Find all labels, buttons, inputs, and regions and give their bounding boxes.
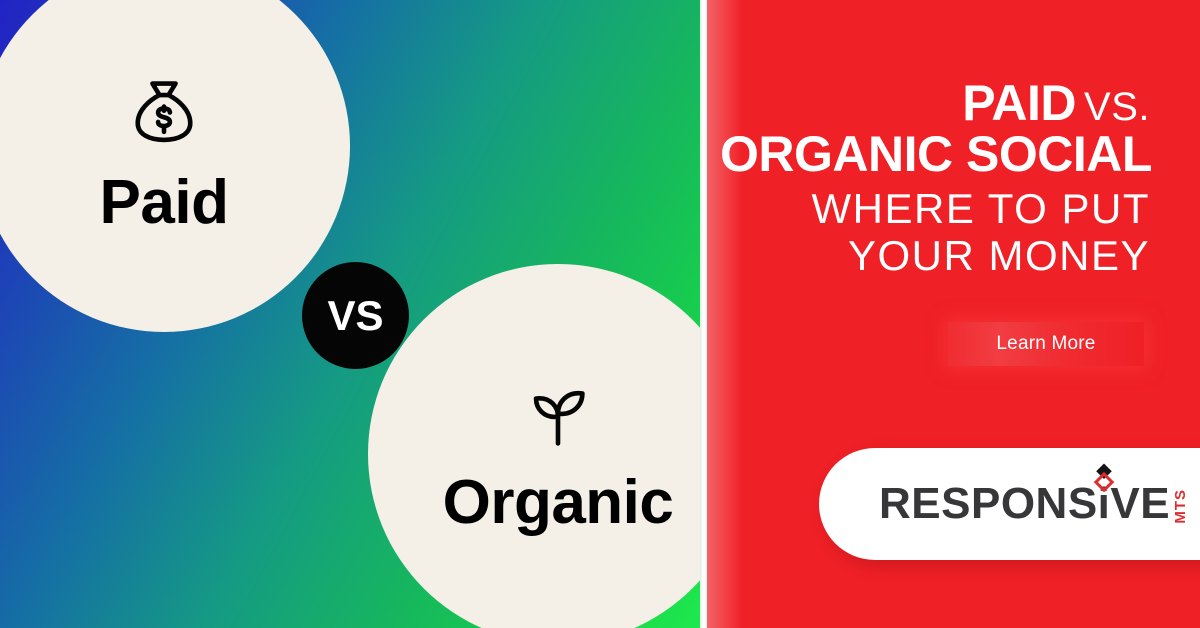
versus-badge-label: VS xyxy=(327,295,383,337)
headline-vs: VS. xyxy=(1084,85,1150,129)
panel-divider xyxy=(700,0,707,628)
versus-badge: VS xyxy=(302,262,409,369)
headline-line-4: YOUR MONEY xyxy=(720,232,1150,279)
brand-wordmark-part1: RESPONS xyxy=(879,482,1098,526)
learn-more-button[interactable]: Learn More xyxy=(948,322,1144,366)
brand-wordmark: RESPONSi VE xyxy=(879,482,1170,526)
brand-i-letter: i xyxy=(1098,482,1111,526)
paid-bubble[interactable]: Paid xyxy=(0,0,350,332)
headline-line-3: WHERE TO PUT xyxy=(720,185,1150,232)
organic-bubble-label: Organic xyxy=(443,472,674,534)
organic-bubble[interactable]: Organic xyxy=(368,264,701,628)
brand-wordmark-part2: VE xyxy=(1110,482,1170,526)
brand-logo: RESPONSi VE MTS xyxy=(879,482,1188,526)
sprout-plant-icon xyxy=(519,380,597,458)
brand-suffix: MTS xyxy=(1173,489,1188,524)
headline-block: PAIDVS. ORGANIC SOCIAL WHERE TO PUT YOUR… xyxy=(720,78,1150,279)
paid-bubble-label: Paid xyxy=(100,172,229,234)
money-bag-icon xyxy=(123,72,205,154)
left-gradient-panel: Paid Organic VS xyxy=(0,0,701,628)
headline-line-1: PAIDVS. xyxy=(720,78,1150,128)
headline-paid: PAID xyxy=(962,75,1076,131)
brand-logo-plate[interactable]: RESPONSi VE MTS xyxy=(819,448,1200,560)
promo-poster: Paid Organic VS PAIDVS. ORGANI xyxy=(0,0,1200,628)
right-red-panel: PAIDVS. ORGANIC SOCIAL WHERE TO PUT YOUR… xyxy=(707,0,1200,628)
diamond-logo-icon xyxy=(1091,456,1117,500)
learn-more-label: Learn More xyxy=(996,333,1095,355)
headline-line-2: ORGANIC SOCIAL xyxy=(720,128,1150,181)
